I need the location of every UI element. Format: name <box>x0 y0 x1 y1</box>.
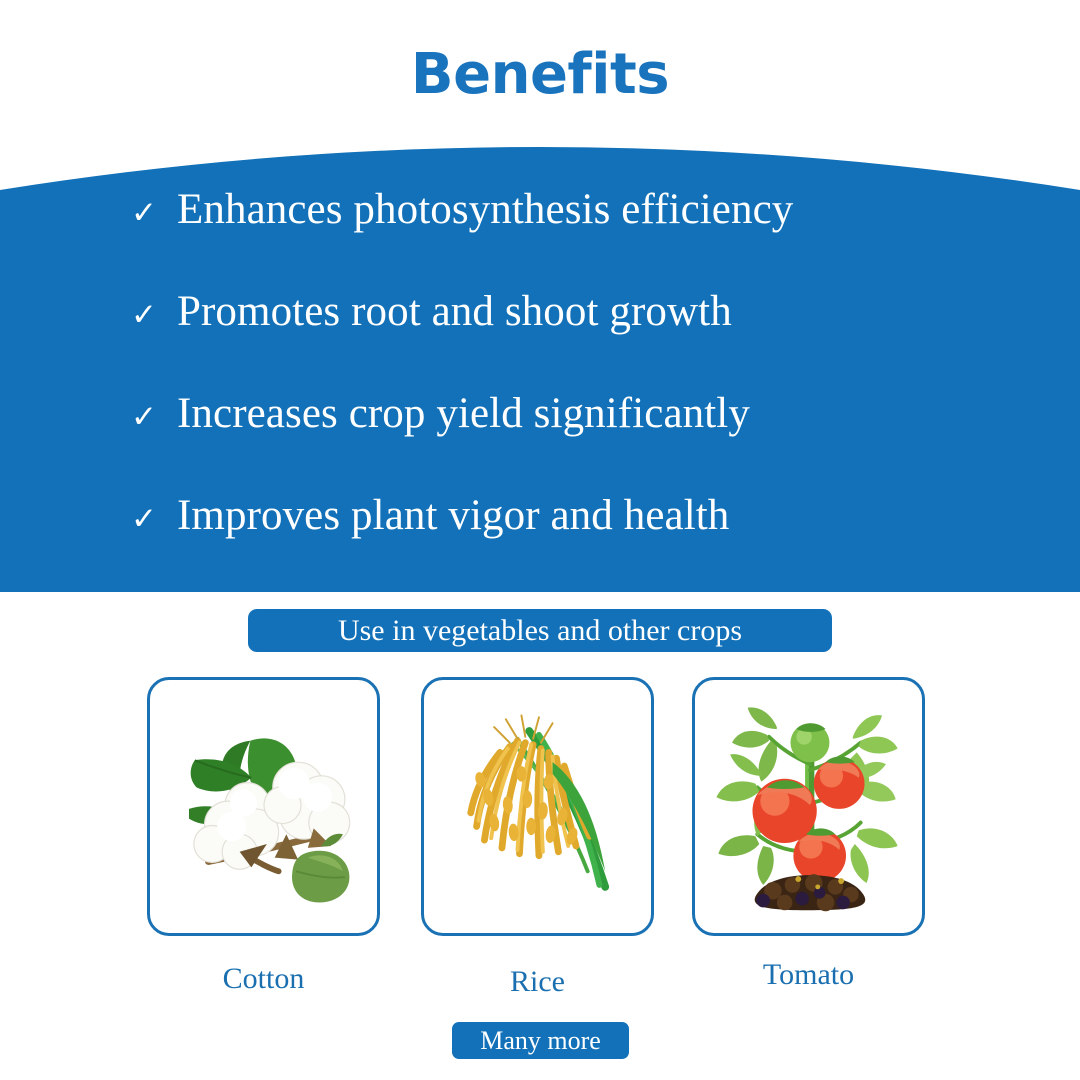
crop-card-tomato <box>692 677 925 936</box>
list-item: ✓ Increases crop yield significantly <box>0 392 1080 494</box>
use-in-crops-label: Use in vegetables and other crops <box>338 616 742 646</box>
many-more-badge: Many more <box>452 1022 629 1059</box>
benefit-text: Enhances photosynthesis efficiency <box>177 188 793 231</box>
benefits-list: ✓ Enhances photosynthesis efficiency ✓ P… <box>0 188 1080 596</box>
crop-caption-rice: Rice <box>421 964 654 1000</box>
crop-cards <box>0 677 1080 937</box>
list-item: ✓ Promotes root and shoot growth <box>0 290 1080 392</box>
page-title: Benefits <box>0 42 1080 107</box>
check-icon: ✓ <box>131 198 177 229</box>
list-item: ✓ Improves plant vigor and health <box>0 494 1080 596</box>
rice-panicle-image <box>424 680 651 933</box>
crop-caption-tomato: Tomato <box>692 957 925 993</box>
benefit-text: Increases crop yield significantly <box>177 392 750 435</box>
benefit-text: Improves plant vigor and health <box>177 494 729 537</box>
crop-card-cotton <box>147 677 380 936</box>
benefits-poster: Benefits ✓ Enhances photosynthesis effic… <box>0 0 1080 1080</box>
check-icon: ✓ <box>131 504 177 535</box>
benefit-text: Promotes root and shoot growth <box>177 290 732 333</box>
crop-card-rice <box>421 677 654 936</box>
crop-caption-cotton: Cotton <box>147 961 380 997</box>
check-icon: ✓ <box>131 402 177 433</box>
use-in-crops-badge: Use in vegetables and other crops <box>248 609 832 652</box>
crop-captions: Cotton Rice Tomato <box>0 955 1080 1005</box>
check-icon: ✓ <box>131 300 177 331</box>
tomato-plant-image <box>695 680 922 933</box>
cotton-boll-image <box>150 680 377 933</box>
many-more-label: Many more <box>480 1028 601 1054</box>
list-item: ✓ Enhances photosynthesis efficiency <box>0 188 1080 290</box>
